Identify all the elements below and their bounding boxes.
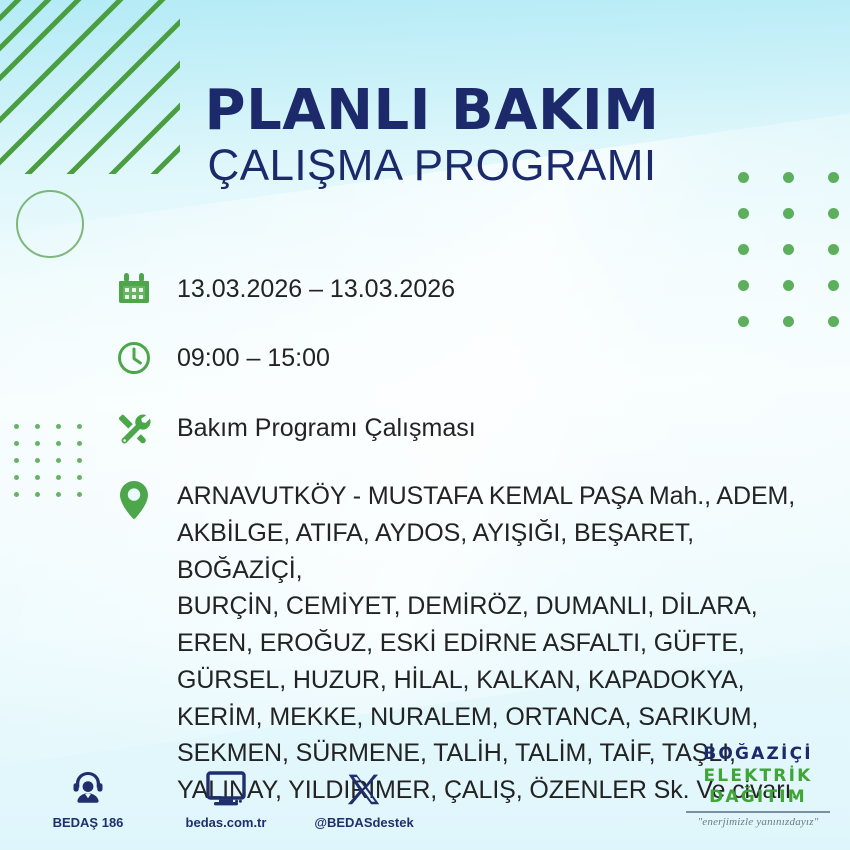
detail-row-work-type: Bakım Programı Çalışması	[112, 406, 824, 450]
logo-line-dagitim: DAĞITIM	[680, 787, 836, 808]
detail-row-time: 09:00 – 15:00	[112, 336, 824, 380]
time-range-text: 09:00 – 15:00	[156, 336, 330, 376]
location-pin-icon	[112, 476, 156, 522]
detail-row-date: 13.03.2026 – 13.03.2026	[112, 266, 824, 310]
logo-line-bogazici: BOĞAZİÇİ	[680, 744, 836, 765]
footer-label-social: @BEDASdestek	[314, 815, 413, 830]
footer-item-call-center[interactable]: BEDAŞ 186	[34, 767, 142, 832]
footer-item-website[interactable]: bedas.com.tr	[172, 767, 280, 832]
page-title: PLANLI BAKIM	[0, 82, 850, 140]
date-range-text: 13.03.2026 – 13.03.2026	[156, 266, 455, 307]
x-twitter-icon	[310, 767, 418, 807]
footer-contact-links: BEDAŞ 186 bedas.com.tr	[34, 767, 418, 832]
planned-maintenance-poster: PLANLI BAKIM ÇALIŞMA PROGRAMI	[0, 0, 850, 850]
circle-outline-decoration	[16, 190, 84, 258]
footer-item-social[interactable]: @BEDASdestek	[310, 767, 418, 832]
clock-icon	[112, 336, 156, 380]
logo-tagline: "enerjimizle yanınızdayız"	[680, 816, 836, 828]
dot-grid-left-decoration	[14, 424, 98, 509]
calendar-icon	[112, 266, 156, 310]
work-type-text: Bakım Programı Çalışması	[156, 406, 476, 446]
monitor-icon	[172, 767, 280, 807]
footer: BEDAŞ 186 bedas.com.tr	[0, 744, 850, 836]
footer-label-website: bedas.com.tr	[186, 815, 267, 830]
maintenance-details: 13.03.2026 – 13.03.2026 09:00 – 15:00	[112, 266, 824, 809]
page-subtitle: ÇALIŞMA PROGRAMI	[0, 142, 850, 190]
logo-line-elektrik: ELEKTRİK	[680, 766, 836, 787]
logo-divider	[686, 811, 830, 813]
headset-support-icon	[34, 767, 142, 807]
poster-heading: PLANLI BAKIM ÇALIŞMA PROGRAMI	[0, 82, 850, 190]
tools-icon	[112, 406, 156, 450]
footer-label-call-center: BEDAŞ 186	[53, 815, 124, 830]
bedas-logo: BOĞAZİÇİ ELEKTRİK DAĞITIM "enerjimizle y…	[680, 744, 836, 828]
